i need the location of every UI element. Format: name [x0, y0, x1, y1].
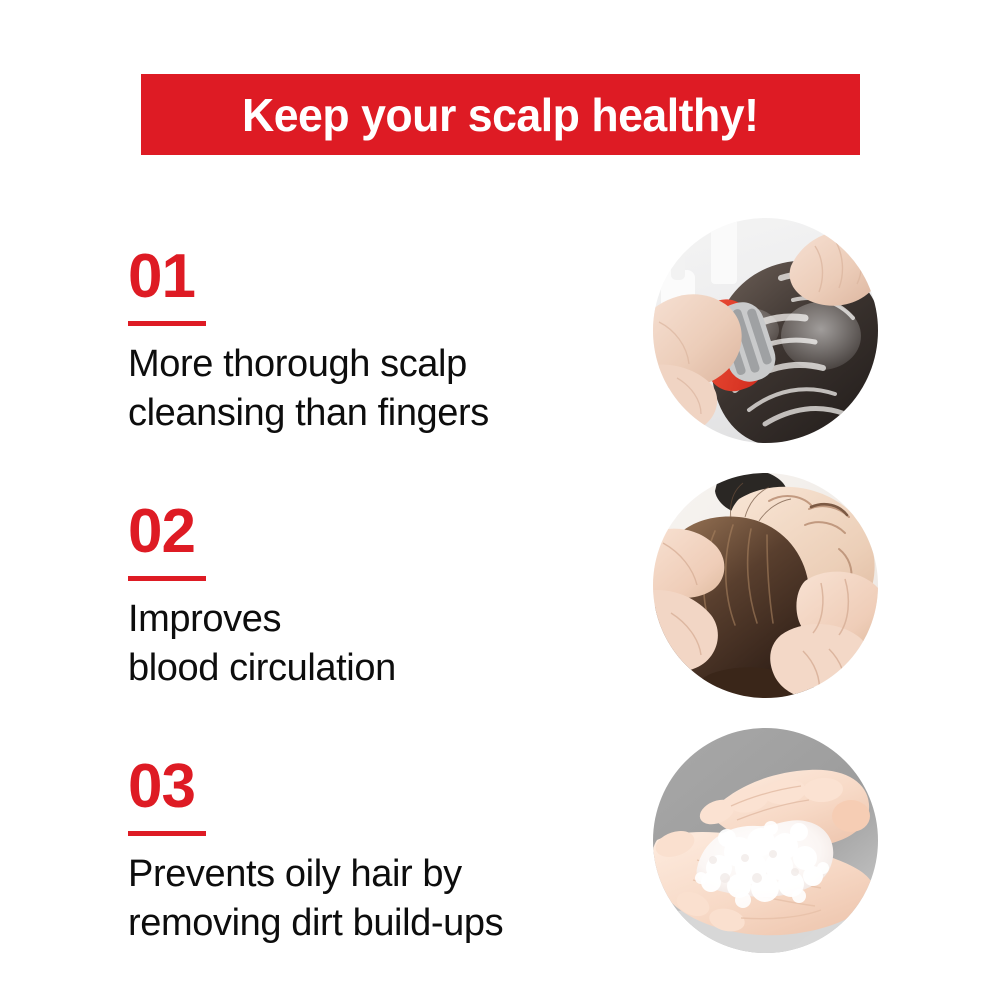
benefit-description: More thorough scalp cleansing than finge…: [128, 326, 628, 437]
scalp-massage-hands-photo: [653, 473, 878, 698]
benefit-number: 02: [128, 473, 628, 565]
page-title: Keep your scalp healthy!: [242, 92, 759, 138]
scalp-massager-brush-photo: [653, 218, 878, 443]
benefit-description: Prevents oily hair by removing dirt buil…: [128, 836, 628, 947]
benefit-description: Improves blood circulation: [128, 581, 628, 692]
benefit-number: 03: [128, 728, 628, 820]
infographic-page: { "header": { "title": "Keep your scalp …: [0, 0, 1000, 1000]
foam-in-hands-photo: [653, 728, 878, 953]
header-banner: Keep your scalp healthy!: [141, 74, 860, 155]
benefit-text-block: 03 Prevents oily hair by removing dirt b…: [128, 728, 628, 947]
benefit-text-block: 01 More thorough scalp cleansing than fi…: [128, 218, 628, 437]
benefit-number: 01: [128, 218, 628, 310]
benefit-text-block: 02 Improves blood circulation: [128, 473, 628, 692]
